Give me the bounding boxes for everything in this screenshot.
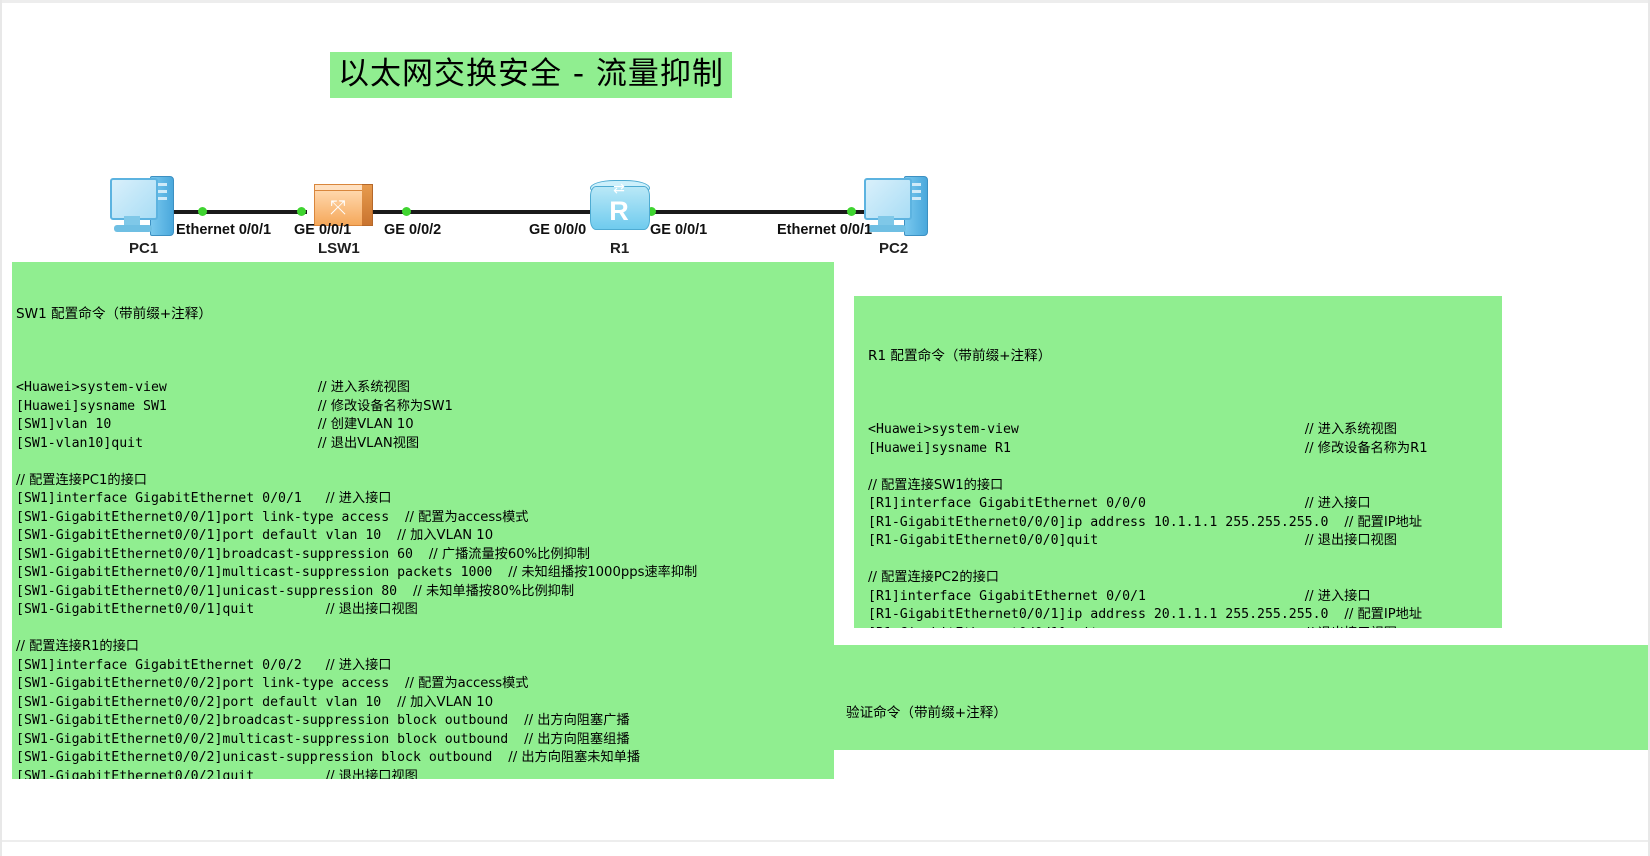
port-dot-pc1	[198, 207, 207, 216]
code-line	[868, 551, 1502, 570]
code-command: [SW1-GigabitEthernet0/0/2]port default v…	[16, 695, 397, 710]
code-line: [SW1-GigabitEthernet0/0/1]port default v…	[16, 527, 834, 546]
sw1-config-block: SW1 配置命令（带前缀+注释） <Huawei>system-view // …	[12, 262, 834, 779]
code-line	[16, 453, 834, 472]
code-comment: // 创建VLAN 10	[318, 417, 414, 432]
code-comment: // 进入接口	[326, 658, 392, 673]
code-comment: // 退出接口视图	[1305, 533, 1397, 548]
code-line: [SW1-GigabitEthernet0/0/2]multicast-supp…	[16, 731, 834, 750]
iface-label-pc1-eth: Ethernet 0/0/1	[176, 222, 271, 238]
code-comment: // 广播流量按60%比例抑制	[429, 547, 590, 562]
code-line: // 配置连接PC2的接口	[868, 569, 1502, 588]
code-command: // 配置连接R1的接口	[16, 639, 139, 654]
code-comment: // 退出VLAN视图	[318, 436, 419, 451]
r1-config-lines: <Huawei>system-view // 进入系统视图[Huawei]sys…	[868, 403, 1502, 629]
iface-label-lsw1-ge001: GE 0/0/1	[294, 222, 351, 238]
code-command: [Huawei]sysname SW1	[16, 399, 318, 414]
code-command: [SW1-GigabitEthernet0/0/2]port link-type…	[16, 676, 405, 691]
code-comment: // 出方向阻塞组播	[524, 732, 629, 747]
code-line: // 配置连接R1的接口	[16, 638, 834, 657]
code-line: [SW1-GigabitEthernet0/0/2]port link-type…	[16, 675, 834, 694]
code-comment: // 出方向阻塞广播	[524, 713, 629, 728]
code-comment: // 配置为access模式	[405, 510, 528, 525]
code-line: // 配置连接SW1的接口	[868, 477, 1502, 496]
code-command: [R1]interface GigabitEthernet 0/0/0	[868, 496, 1305, 511]
code-line	[868, 458, 1502, 477]
code-comment: // 进入系统视图	[1305, 422, 1397, 437]
network-topology-diagram: PC1 ⤧ LSW1 ⇄ R R1 PC2 Ethernet 0/0/1 GE …	[2, 160, 1002, 265]
code-comment: // 退出接口视图	[326, 602, 418, 617]
code-command: [SW1-GigabitEthernet0/0/2]unicast-suppre…	[16, 750, 508, 765]
iface-label-lsw1-ge002: GE 0/0/2	[384, 222, 441, 238]
pc1-icon	[110, 176, 174, 238]
code-command: [SW1-GigabitEthernet0/0/1]broadcast-supp…	[16, 547, 429, 562]
code-command: [SW1]interface GigabitEthernet 0/0/1	[16, 491, 326, 506]
port-dot-pc2	[847, 207, 856, 216]
code-line: [SW1-GigabitEthernet0/0/1]multicast-supp…	[16, 564, 834, 583]
link-r1-pc2	[647, 210, 897, 214]
code-command: // 配置连接PC1的接口	[16, 473, 147, 488]
code-command: <Huawei>system-view	[868, 422, 1305, 437]
code-command: [SW1-GigabitEthernet0/0/1]quit	[16, 602, 326, 617]
slide-frame-top	[2, 0, 1650, 3]
node-label-lsw1: LSW1	[318, 240, 360, 257]
code-comment: // 未知单播按80%比例抑制	[413, 584, 574, 599]
iface-label-pc2-eth: Ethernet 0/0/1	[777, 222, 872, 238]
code-command: [SW1-vlan10]quit	[16, 436, 318, 451]
code-line: [SW1-GigabitEthernet0/0/2]unicast-suppre…	[16, 749, 834, 768]
code-comment: // 进入接口	[326, 491, 392, 506]
code-line: [SW1-GigabitEthernet0/0/2]quit // 退出接口视图	[16, 768, 834, 780]
code-comment: // 配置IP地址	[1344, 515, 1422, 530]
code-comment: // 修改设备名称为SW1	[318, 399, 453, 414]
r1-config-block: R1 配置命令（带前缀+注释） <Huawei>system-view // 进…	[854, 296, 1502, 628]
code-line: [SW1-GigabitEthernet0/0/1]port link-type…	[16, 509, 834, 528]
code-line: [SW1]interface GigabitEthernet 0/0/1 // …	[16, 490, 834, 509]
code-comment: // 退出接口视图	[326, 769, 418, 780]
code-line: [SW1-GigabitEthernet0/0/1]unicast-suppre…	[16, 583, 834, 602]
code-line: [R1-GigabitEthernet0/0/1]ip address 20.1…	[868, 606, 1502, 625]
code-command: [R1-GigabitEthernet0/0/1]quit	[868, 626, 1305, 629]
code-comment: // 进入系统视图	[318, 380, 410, 395]
code-command: [R1-GigabitEthernet0/0/1]ip address 20.1…	[868, 607, 1344, 622]
code-line: [R1-GigabitEthernet0/0/0]quit // 退出接口视图	[868, 532, 1502, 551]
sw1-config-heading: SW1 配置命令（带前缀+注释）	[16, 305, 834, 324]
slide-frame-bottom	[2, 840, 1650, 856]
code-line: <Huawei>system-view // 进入系统视图	[868, 421, 1502, 440]
code-command: [SW1-GigabitEthernet0/0/2]quit	[16, 769, 326, 780]
code-comment: // 配置为access模式	[405, 676, 528, 691]
node-label-pc2: PC2	[879, 240, 908, 257]
code-command: <Huawei>system-view	[16, 380, 318, 395]
code-line	[16, 361, 834, 380]
code-line	[16, 620, 834, 639]
code-command: [SW1-GigabitEthernet0/0/1]port default v…	[16, 528, 397, 543]
r1-config-heading: R1 配置命令（带前缀+注释）	[868, 347, 1502, 366]
code-line: [R1-GigabitEthernet0/0/1]quit // 退出接口视图	[868, 625, 1502, 629]
code-line	[868, 403, 1502, 422]
code-command: [SW1-GigabitEthernet0/0/1]multicast-supp…	[16, 565, 508, 580]
page-title: 以太网交换安全 - 流量抑制	[330, 52, 732, 98]
code-line: [SW1-GigabitEthernet0/0/1]broadcast-supp…	[16, 546, 834, 565]
code-command: [R1-GigabitEthernet0/0/0]quit	[868, 533, 1305, 548]
sw1-config-lines: <Huawei>system-view // 进入系统视图[Huawei]sys…	[16, 361, 834, 780]
iface-label-r1-ge000: GE 0/0/0	[529, 222, 586, 238]
verify-command-block: 验证命令（带前缀+注释） <SW1>display flow-suppressi…	[832, 645, 1650, 750]
code-comment: // 加入VLAN 10	[397, 528, 493, 543]
code-line: [SW1-GigabitEthernet0/0/1]quit // 退出接口视图	[16, 601, 834, 620]
code-comment: // 未知组播按1000pps速率抑制	[508, 565, 697, 580]
code-comment: // 退出接口视图	[1305, 626, 1397, 629]
code-line: [SW1]vlan 10 // 创建VLAN 10	[16, 416, 834, 435]
code-line: [SW1-GigabitEthernet0/0/2]broadcast-supp…	[16, 712, 834, 731]
iface-label-r1-ge001: GE 0/0/1	[650, 222, 707, 238]
code-command: [R1]interface GigabitEthernet 0/0/1	[868, 589, 1305, 604]
code-line: [Huawei]sysname SW1 // 修改设备名称为SW1	[16, 398, 834, 417]
code-line: // 配置连接PC1的接口	[16, 472, 834, 491]
code-command: [SW1-GigabitEthernet0/0/2]multicast-supp…	[16, 732, 524, 747]
code-line: [SW1]interface GigabitEthernet 0/0/2 // …	[16, 657, 834, 676]
code-command: [SW1]interface GigabitEthernet 0/0/2	[16, 658, 326, 673]
port-dot-lsw1-ge001	[297, 207, 306, 216]
node-label-r1: R1	[610, 240, 629, 257]
code-line: [R1]interface GigabitEthernet 0/0/1 // 进…	[868, 588, 1502, 607]
code-command: [Huawei]sysname R1	[868, 441, 1305, 456]
pc2-icon	[864, 176, 928, 238]
code-command: [SW1]vlan 10	[16, 417, 318, 432]
code-command: // 配置连接PC2的接口	[868, 570, 999, 585]
code-comment: // 进入接口	[1305, 496, 1371, 511]
code-comment: // 进入接口	[1305, 589, 1371, 604]
code-line: [SW1-vlan10]quit // 退出VLAN视图	[16, 435, 834, 454]
code-command: [SW1-GigabitEthernet0/0/1]port link-type…	[16, 510, 405, 525]
code-command: // 配置连接SW1的接口	[868, 478, 1003, 493]
code-command: [SW1-GigabitEthernet0/0/1]unicast-suppre…	[16, 584, 413, 599]
code-comment: // 配置IP地址	[1344, 607, 1422, 622]
verify-heading: 验证命令（带前缀+注释）	[846, 704, 1650, 723]
port-dot-lsw1-ge002	[402, 207, 411, 216]
code-line: [R1-GigabitEthernet0/0/0]ip address 10.1…	[868, 514, 1502, 533]
node-label-pc1: PC1	[129, 240, 158, 257]
r1-icon: ⇄ R	[590, 180, 650, 232]
link-pc1-lsw1	[167, 210, 307, 214]
code-line: [SW1-GigabitEthernet0/0/2]port default v…	[16, 694, 834, 713]
code-line: [R1]interface GigabitEthernet 0/0/0 // 进…	[868, 495, 1502, 514]
slide-page: 以太网交换安全 - 流量抑制 PC1 ⤧ LSW1 ⇄ R R1	[0, 0, 1650, 856]
code-line: [Huawei]sysname R1 // 修改设备名称为R1	[868, 440, 1502, 459]
code-comment: // 加入VLAN 10	[397, 695, 493, 710]
code-comment: // 出方向阻塞未知单播	[508, 750, 640, 765]
code-comment: // 修改设备名称为R1	[1305, 441, 1428, 456]
code-command: [SW1-GigabitEthernet0/0/2]broadcast-supp…	[16, 713, 524, 728]
code-command: [R1-GigabitEthernet0/0/0]ip address 10.1…	[868, 515, 1344, 530]
code-line: <Huawei>system-view // 进入系统视图	[16, 379, 834, 398]
